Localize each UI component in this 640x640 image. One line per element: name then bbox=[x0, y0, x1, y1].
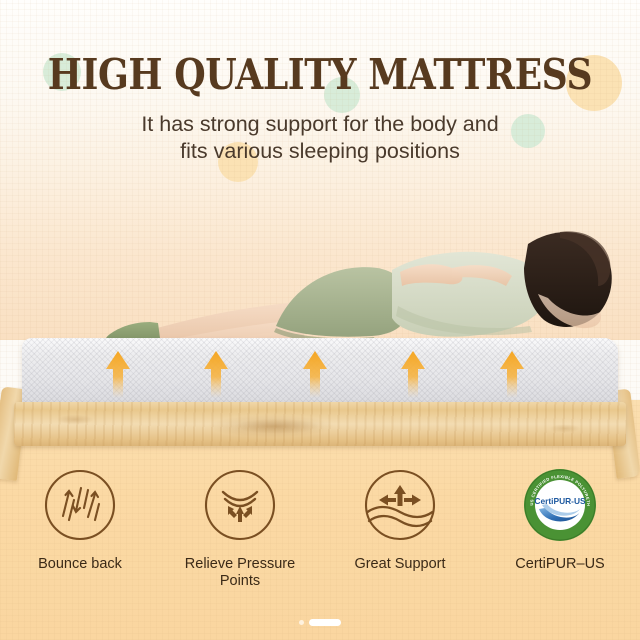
subtitle-line-1: It has strong support for the body and bbox=[0, 96, 640, 138]
great-support-icon bbox=[363, 468, 437, 542]
support-arrow-5 bbox=[499, 350, 525, 398]
bed-frame-rail bbox=[14, 402, 626, 446]
bounce-back-icon bbox=[43, 468, 117, 542]
support-arrow-1 bbox=[105, 350, 131, 398]
header: HIGH QUALITY MATTRESS It has strong supp… bbox=[0, 0, 640, 165]
carousel-dot[interactable] bbox=[299, 620, 304, 625]
feature-list: Bounce back Relieve Pressure Points bbox=[0, 468, 640, 590]
feature-label: Great Support bbox=[325, 556, 475, 573]
feature-relieve-pressure-points[interactable]: Relieve Pressure Points bbox=[165, 468, 315, 590]
feature-certipur-us[interactable]: CERTIPUR-US CERTIFIED FLEXIBLE POLYURETH… bbox=[485, 468, 635, 573]
feature-label: CertiPUR–US bbox=[485, 556, 635, 573]
carousel-indicator[interactable] bbox=[0, 619, 640, 626]
support-arrow-2 bbox=[203, 350, 229, 398]
subtitle-line-2: fits various sleeping positions bbox=[0, 138, 640, 165]
feature-great-support[interactable]: Great Support bbox=[325, 468, 475, 573]
product-marketing-image: HIGH QUALITY MATTRESS It has strong supp… bbox=[0, 0, 640, 640]
product-scene bbox=[0, 210, 640, 460]
badge-brand-text: CertiPUR-US bbox=[534, 496, 586, 506]
feature-bounce-back[interactable]: Bounce back bbox=[5, 468, 155, 573]
wood-grain-texture bbox=[14, 402, 626, 446]
certipur-us-badge: CERTIPUR-US CERTIFIED FLEXIBLE POLYURETH… bbox=[523, 468, 597, 542]
feature-label: Bounce back bbox=[5, 556, 155, 573]
support-arrow-3 bbox=[302, 350, 328, 398]
feature-label: Relieve Pressure Points bbox=[165, 556, 315, 590]
support-arrow-4 bbox=[400, 350, 426, 398]
relieve-pressure-icon bbox=[203, 468, 277, 542]
carousel-active-bar[interactable] bbox=[309, 619, 341, 626]
page-title: HIGH QUALITY MATTRESS bbox=[45, 0, 595, 96]
